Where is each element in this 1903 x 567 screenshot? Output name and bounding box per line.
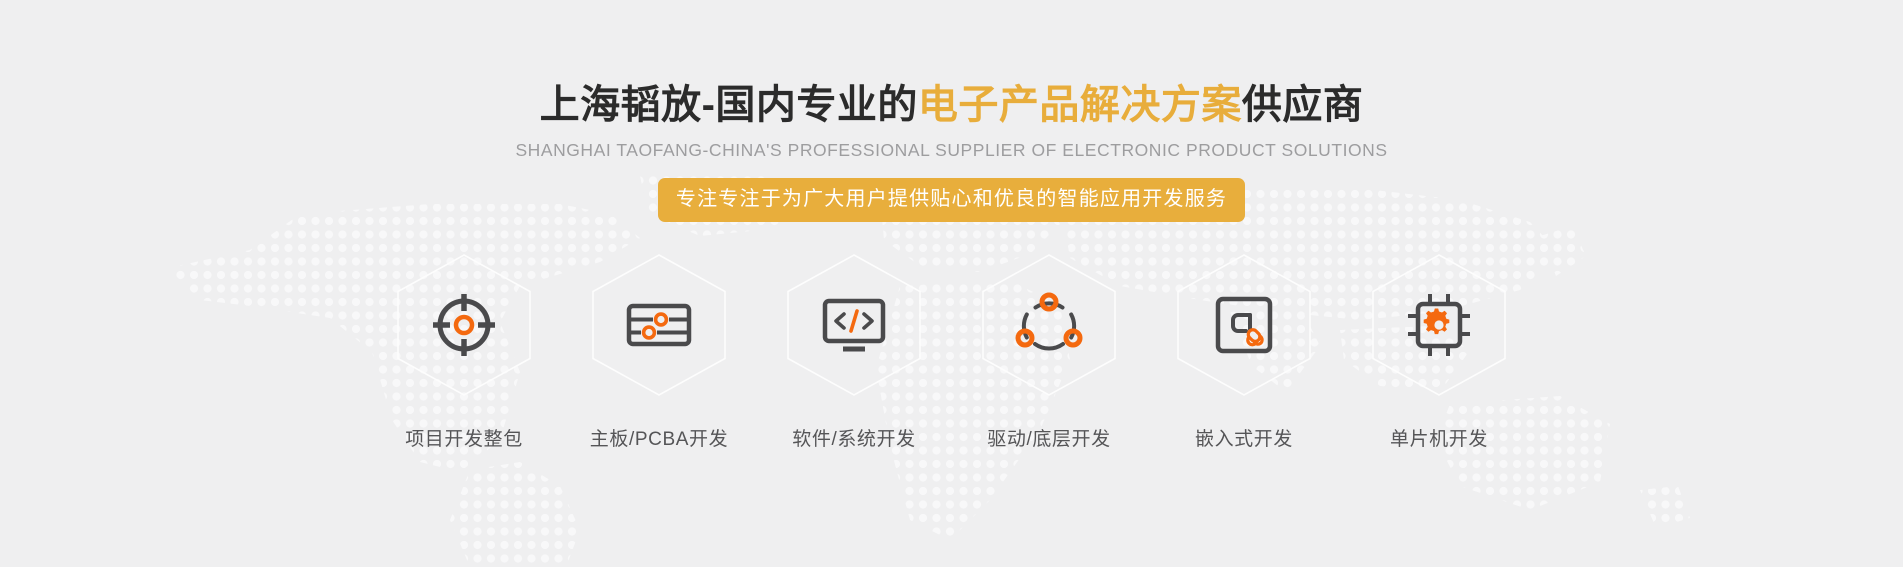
service-item-mcu[interactable]: 单片机开发 [1342,252,1537,451]
headline-part-3: 供应商 [1242,83,1364,127]
headline-part-1: 上海韬放-国内专业的 [540,83,918,127]
service-label: 软件/系统开发 [792,424,915,451]
service-label: 嵌入式开发 [1195,424,1293,451]
hexagon-frame [781,252,927,398]
headline-highlight: 电子产品解决方案 [918,83,1242,127]
service-item-driver[interactable]: 驱动/底层开发 [952,252,1147,451]
service-item-software[interactable]: 软件/系统开发 [757,252,952,451]
monitor-code-icon [818,289,890,361]
service-label: 项目开发整包 [405,424,523,451]
tagline-badge: 专注专注于为广大用户提供贴心和优良的智能应用开发服务 [658,178,1245,222]
hero-banner: 上海韬放-国内专业的电子产品解决方案供应商 SHANGHAI TAOFANG-C… [0,0,1903,567]
embedded-link-icon [1208,289,1280,361]
hexagon-frame [586,252,732,398]
page-title: 上海韬放-国内专业的电子产品解决方案供应商 [0,82,1903,129]
hexagon-frame [391,252,537,398]
target-crosshair-icon [428,289,500,361]
circuit-board-icon [623,289,695,361]
page-subtitle: SHANGHAI TAOFANG-CHINA'S PROFESSIONAL SU… [0,140,1903,161]
service-item-pcba[interactable]: 主板/PCBA开发 [562,252,757,451]
microchip-gear-icon [1403,289,1475,361]
node-network-icon [1013,289,1085,361]
tagline-badge-row: 专注专注于为广大用户提供贴心和优良的智能应用开发服务 [0,178,1903,222]
hexagon-frame [1366,252,1512,398]
service-list: 项目开发整包 [0,252,1903,451]
hexagon-frame [1171,252,1317,398]
hexagon-frame [976,252,1122,398]
service-label: 驱动/底层开发 [987,424,1110,451]
hero-text-block: 上海韬放-国内专业的电子产品解决方案供应商 SHANGHAI TAOFANG-C… [0,0,1903,222]
service-item-embedded[interactable]: 嵌入式开发 [1147,252,1342,451]
service-item-project-package[interactable]: 项目开发整包 [367,252,562,451]
service-label: 单片机开发 [1390,424,1488,451]
service-label: 主板/PCBA开发 [590,424,728,451]
